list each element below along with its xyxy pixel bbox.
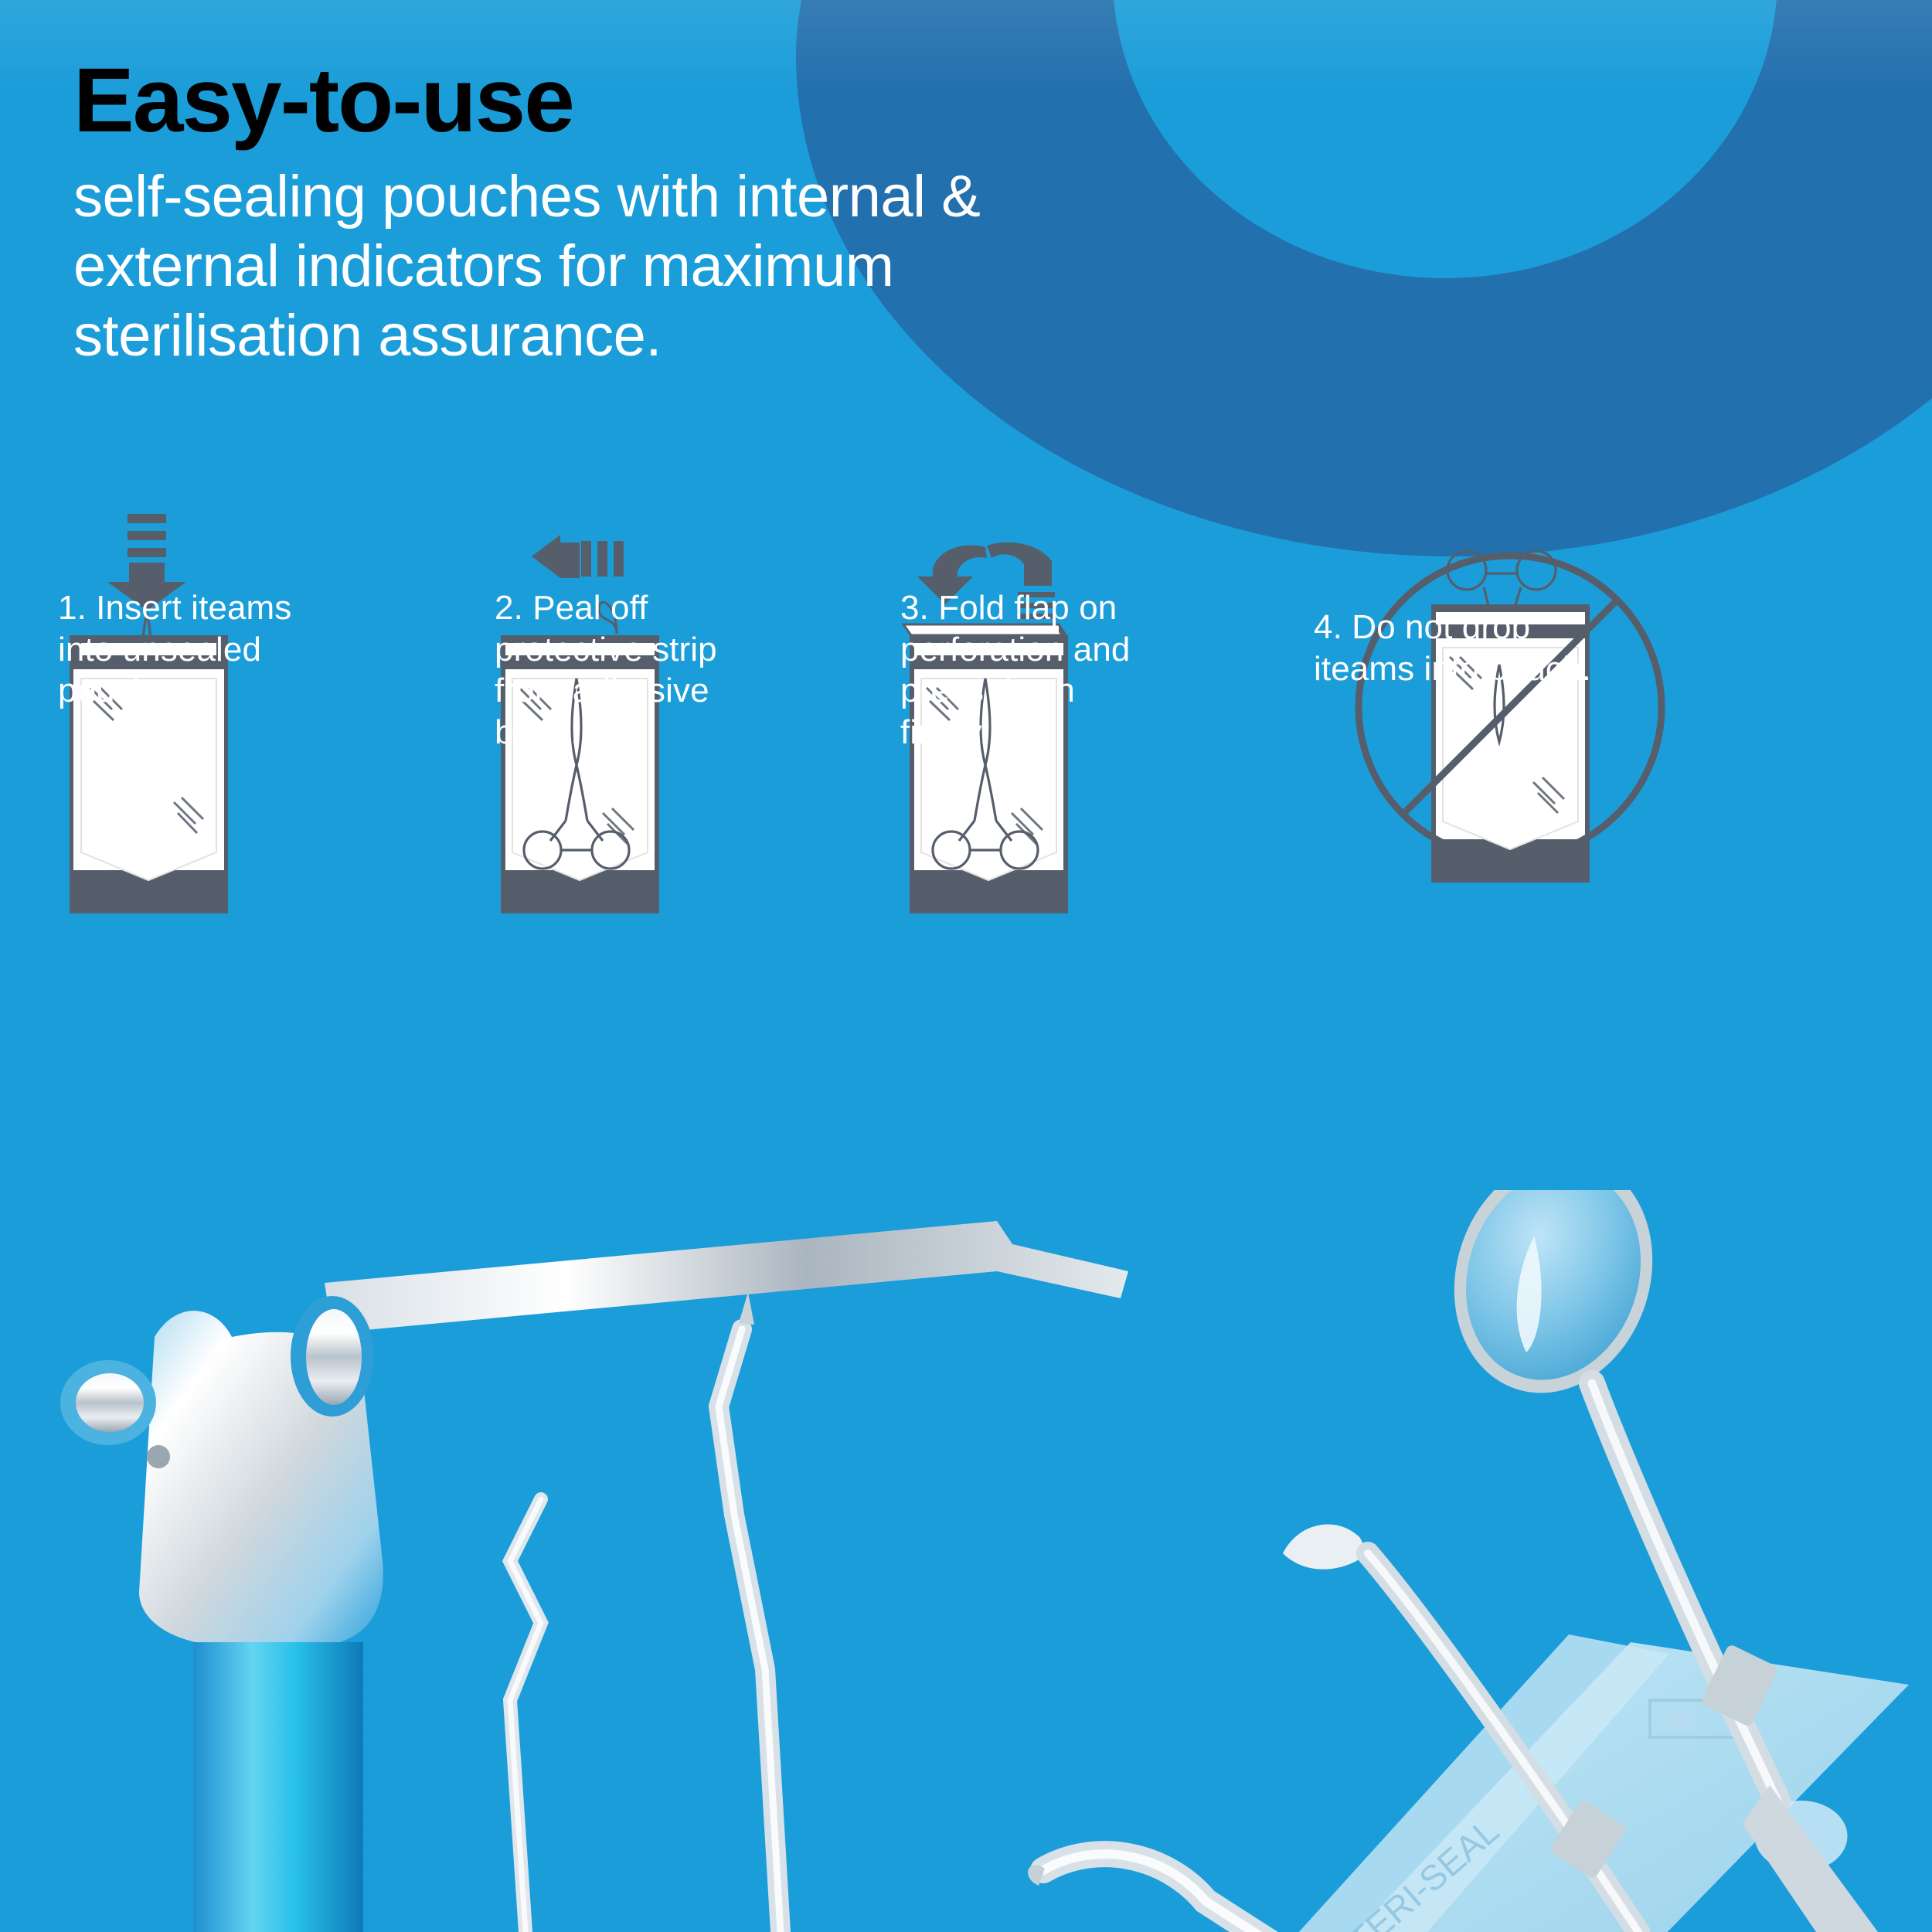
dental-curette [1028, 1854, 1314, 1932]
step-3-caption: 3. Fold flap on perforation and press do… [900, 587, 1167, 753]
step-2-caption: 2. Peal off protective strip from adhesi… [495, 587, 757, 753]
left-arrow-icon [532, 535, 624, 578]
step-4-illustration [1314, 510, 1677, 931]
headline-block: Easy-to-use self-sealing pouches with in… [73, 54, 1078, 370]
product-photo: STERI-SEAL [0, 1190, 1932, 1932]
air-water-syringe [60, 1221, 1128, 1932]
dental-explorer-probe [510, 1499, 541, 1932]
dental-scaler [719, 1292, 781, 1932]
page-subtitle: self-sealing pouches with internal & ext… [73, 162, 1078, 370]
product-photo-illustration: STERI-SEAL [0, 1190, 1932, 1932]
page-title: Easy-to-use [73, 54, 1078, 147]
step-1-illustration [58, 510, 290, 931]
steps-row: 1. Insert iteams into unsealed pouch. [0, 510, 1932, 1190]
step-1-caption: 1. Insert iteams into unsealed pouch. [58, 587, 313, 712]
step-4-caption: 4. Do not drop iteams into pouch. [1314, 607, 1623, 689]
